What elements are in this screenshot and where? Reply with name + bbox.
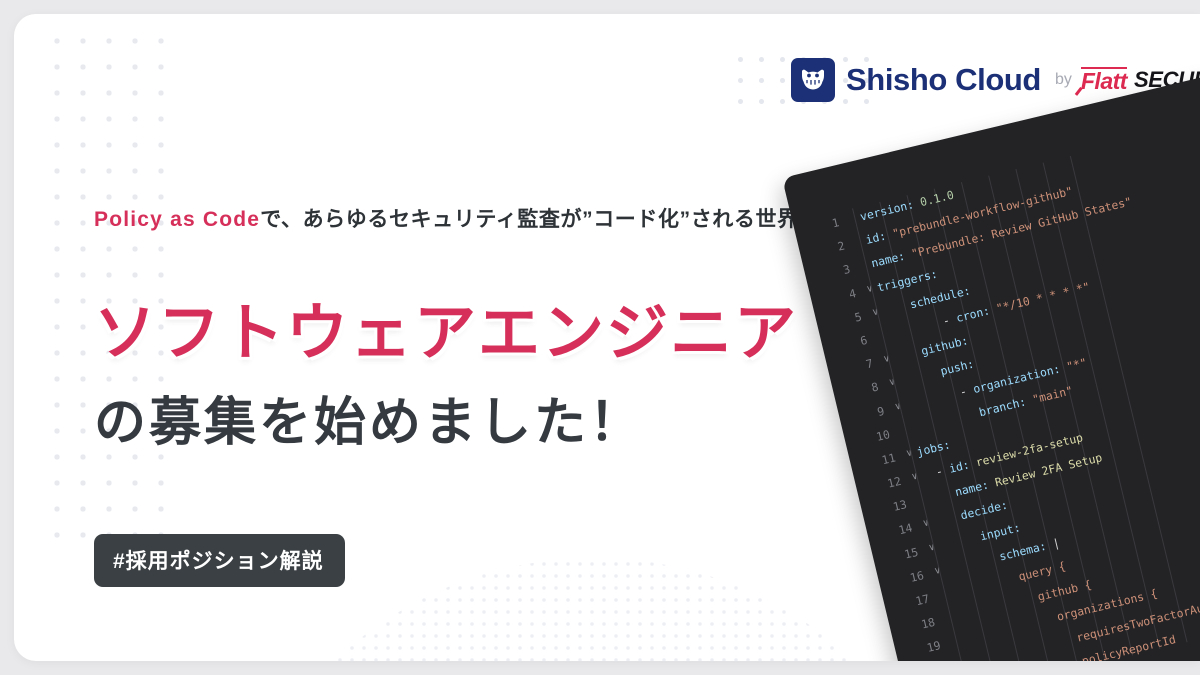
code-line: 5∨schedule: <box>821 165 1200 337</box>
code-line-number: 10 <box>849 420 899 454</box>
code-line-number: 4 <box>815 279 865 313</box>
code-line-number: 15 <box>877 538 927 572</box>
hero-kicker-highlight: Policy as Code <box>94 208 260 231</box>
fold-spacer <box>944 628 959 632</box>
brand-lockup: Shisho Cloud by Flatt SECURITY <box>791 56 1200 104</box>
code-line: 16∨schema: | <box>883 424 1200 596</box>
code-line-number: 17 <box>888 585 938 619</box>
indent-guides <box>852 143 1200 661</box>
fold-spacer <box>911 487 926 491</box>
slide-canvas: Shisho Cloud by Flatt SECURITY Policy as… <box>0 0 1200 675</box>
brand-by-label: by <box>1055 71 1072 89</box>
code-line-number: 12 <box>860 467 910 501</box>
code-line: 22} <box>917 565 1200 661</box>
fold-spacer <box>933 581 948 585</box>
code-line: 12∨- id: review-2fa-setup <box>860 330 1200 502</box>
code-line: 10branch: "main" <box>849 283 1200 455</box>
code-line-number: 16 <box>883 561 933 595</box>
code-line-text: github: <box>891 212 1200 369</box>
shisho-mascot-icon <box>791 58 835 102</box>
content-card: Shisho Cloud by Flatt SECURITY Policy as… <box>14 14 1200 661</box>
code-line-text: } <box>982 589 1200 661</box>
chevron-down-icon[interactable]: ∨ <box>888 393 908 420</box>
chevron-down-icon[interactable]: ∨ <box>916 511 936 538</box>
code-line-number: 19 <box>900 632 950 661</box>
code-line-text: schedule: <box>880 165 1200 322</box>
code-line-text: decide: <box>931 377 1200 534</box>
code-line-text: triggers: <box>874 142 1200 299</box>
code-line-text: input: <box>936 401 1200 558</box>
code-editor-panel: 1version: 0.1.02id: "prebundle-workflow-… <box>782 29 1200 661</box>
code-line-text: id: "prebundle-workflow-github" <box>863 95 1200 252</box>
chevron-down-icon[interactable]: ∨ <box>865 299 885 326</box>
code-line: 24} <box>928 612 1200 661</box>
code-line-number: 18 <box>894 608 944 642</box>
hero-kicker-rest: で、あらゆるセキュリティ監査が”コード化”される世界をつくる <box>260 208 884 231</box>
chevron-down-icon[interactable]: ∨ <box>882 370 902 397</box>
code-line-text: jobs: <box>914 307 1200 464</box>
code-line: 11∨jobs: <box>855 307 1200 479</box>
code-line-text: requiresTwoFactorAuthentication <box>965 518 1200 661</box>
chevron-down-icon[interactable]: ∨ <box>899 440 919 467</box>
code-line-number: 8 <box>838 373 888 407</box>
chevron-down-icon[interactable]: ∨ <box>905 464 925 491</box>
code-line: 17query { <box>888 448 1200 620</box>
code-line-text: } <box>976 565 1200 661</box>
code-line-list: 1version: 0.1.02id: "prebundle-workflow-… <box>782 29 1200 661</box>
fold-spacer <box>854 252 869 256</box>
code-line: 14∨decide: <box>872 377 1200 549</box>
code-line: 23} <box>922 589 1200 661</box>
brand-company-name: Flatt <box>1081 67 1127 93</box>
chevron-down-icon[interactable]: ∨ <box>928 558 948 585</box>
code-line: 20requiresTwoFactorAuthentication <box>905 518 1200 661</box>
code-line: 19organizations { <box>900 495 1200 661</box>
code-line: 8∨push: <box>838 236 1200 408</box>
code-line: 9∨- organization: "*" <box>843 260 1200 432</box>
code-line: 7∨github: <box>832 212 1200 384</box>
fold-spacer <box>950 652 965 656</box>
code-line-number: 5 <box>821 303 871 337</box>
code-line: 15∨input: <box>877 401 1200 573</box>
code-line-text: name: Review 2FA Setup <box>925 354 1200 511</box>
code-line-text: query { <box>948 448 1200 605</box>
chevron-down-icon[interactable]: ∨ <box>877 346 897 373</box>
hero-title-line-1: ソフトウェアエンジニア <box>94 282 798 372</box>
code-line-number: 11 <box>855 444 905 478</box>
fold-spacer <box>871 323 886 327</box>
code-line-text: - cron: "*/10 * * * *" <box>886 189 1200 346</box>
code-line-text: } <box>987 612 1200 661</box>
code-line-number: 13 <box>866 491 916 525</box>
code-line: 2id: "prebundle-workflow-github" <box>804 95 1200 267</box>
code-line-number: 6 <box>826 326 876 360</box>
chevron-down-icon[interactable]: ∨ <box>922 534 942 561</box>
code-line-text: policyReportId <box>970 542 1200 661</box>
code-line-number: 20 <box>905 656 955 661</box>
code-line-text: name: "Prebundle: Review GitHub States" <box>869 118 1200 275</box>
code-line: 25} <box>934 636 1200 661</box>
code-line-text: - organization: "*" <box>903 260 1200 417</box>
code-line-number: 3 <box>809 256 859 290</box>
code-line: 13name: Review 2FA Setup <box>866 354 1200 526</box>
code-line-text: organizations { <box>959 495 1200 652</box>
code-line-text: schema: | <box>942 424 1200 581</box>
code-line-number: 9 <box>843 397 893 431</box>
code-line-text: branch: "main" <box>908 283 1200 440</box>
hero-kicker: Policy as Codeで、あらゆるセキュリティ監査が”コード化”される世界… <box>94 203 885 233</box>
brand-product-name: Shisho Cloud <box>846 62 1041 98</box>
code-line-text: } <box>993 636 1200 661</box>
code-line-number: 7 <box>832 350 882 384</box>
hero-tag-badge: #採用ポジション解説 <box>94 534 345 587</box>
code-line-text: push: <box>897 236 1200 393</box>
code-panel-wrapper: 1version: 0.1.02id: "prebundle-workflow-… <box>782 29 1200 661</box>
fold-spacer <box>894 417 909 421</box>
code-line-number: 14 <box>872 514 922 548</box>
code-line: 21policyReportId <box>911 542 1200 661</box>
code-line-text: github { <box>953 471 1200 628</box>
hero-title-line-2: の募集を始めました！ <box>94 380 644 455</box>
code-line-text: - id: review-2fa-setup <box>920 330 1200 487</box>
brand-company-suffix: SECURITY <box>1134 67 1200 93</box>
chevron-down-icon[interactable]: ∨ <box>860 276 880 303</box>
fold-spacer <box>939 605 954 609</box>
code-line: 18github { <box>894 471 1200 643</box>
code-line-number: 2 <box>804 232 854 266</box>
